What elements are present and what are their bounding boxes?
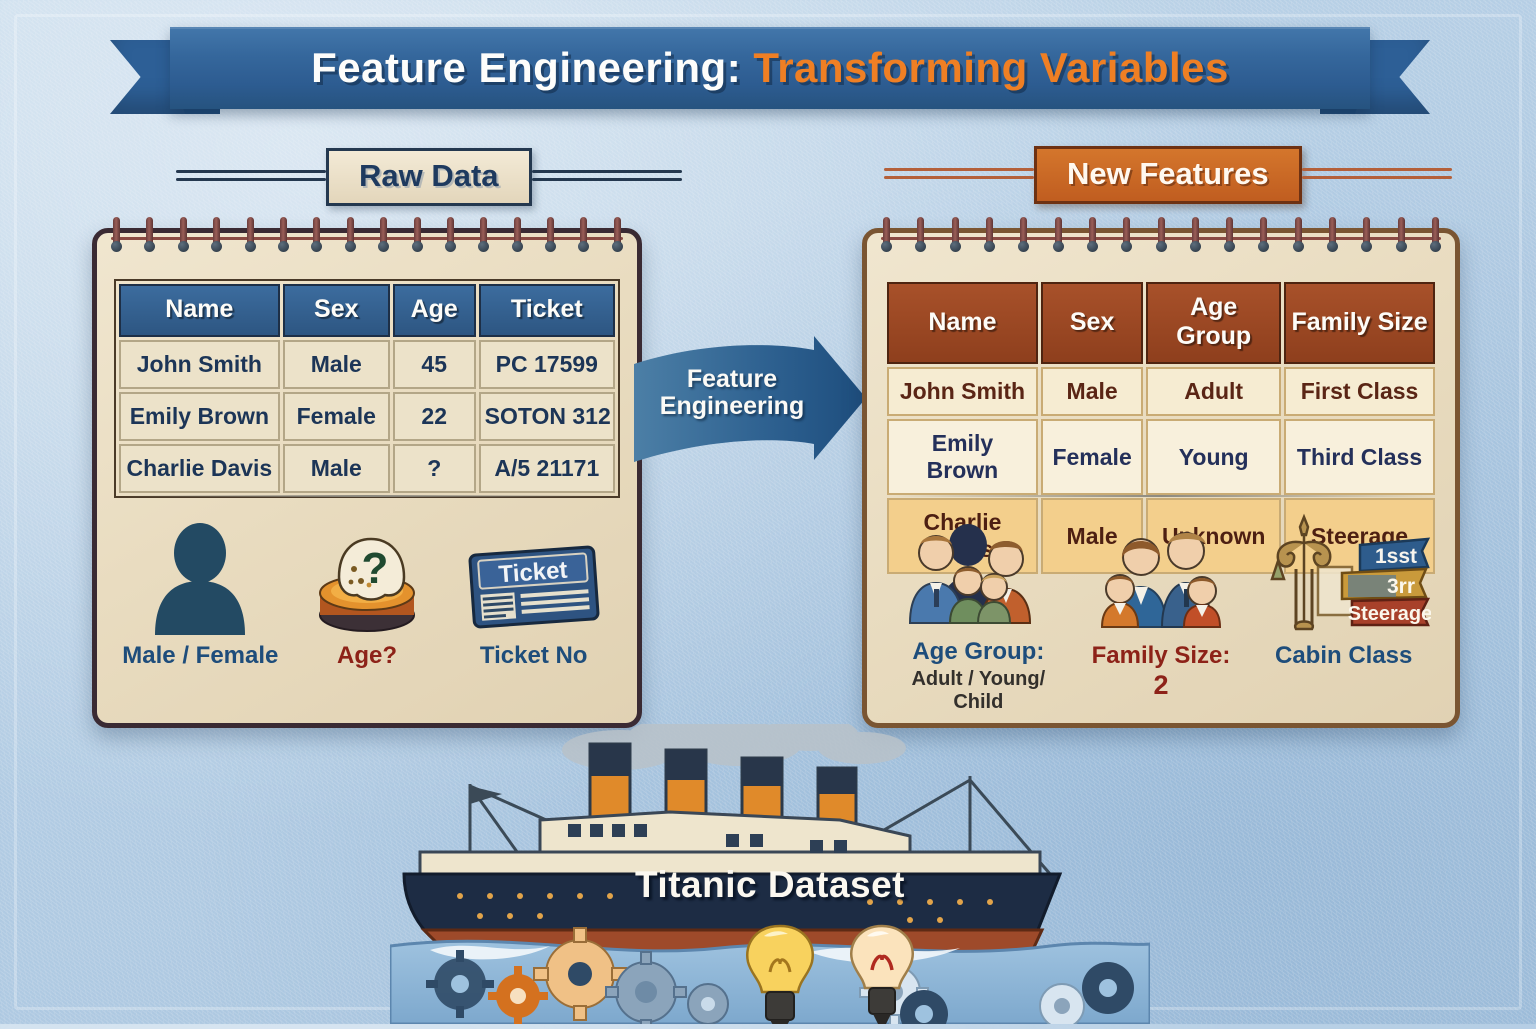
feature-engineering-arrow: Feature Engineering xyxy=(632,336,868,476)
feature-icon-family-size: Family Size: 2 xyxy=(1070,509,1253,713)
cell-age: 22 xyxy=(393,392,476,441)
cell-sex: Female xyxy=(283,392,390,441)
cell-name: Charlie Davis xyxy=(119,444,280,493)
signpost-icon: 1sst 3rr Steerage xyxy=(1256,509,1431,635)
family-pair-icon xyxy=(1086,523,1236,635)
new-features-icon-row: Age Group: Adult / Young/ Child xyxy=(887,509,1435,713)
col-header-ticket: Ticket xyxy=(479,284,615,337)
table-header-row: Name Sex Age Ticket xyxy=(119,284,615,337)
col-header-sex: Sex xyxy=(1041,282,1143,364)
table-row: Emily Brown Female 22 SOTON 312 xyxy=(119,392,615,441)
family-group-icon xyxy=(898,519,1058,631)
age-group-caption: Age Group: xyxy=(912,639,1044,666)
cell-name: Emily Brown xyxy=(887,419,1038,495)
question-glyph: ? xyxy=(362,544,389,593)
title-ribbon: Feature Engineering: Transforming Variab… xyxy=(110,22,1430,122)
family-size-value: 2 xyxy=(1153,670,1168,700)
title-part-1: Feature Engineering: xyxy=(311,44,741,91)
cell-family-size: Third Class xyxy=(1284,419,1435,495)
table-header-row: Name Sex Age Group Family Size xyxy=(887,282,1435,364)
gear-icon xyxy=(1082,962,1134,1014)
col-header-family-size: Family Size xyxy=(1284,282,1435,364)
raw-data-card: Name Sex Age Ticket John Smith Male 45 P… xyxy=(92,228,642,728)
ticket-word: Ticket xyxy=(497,557,568,589)
cabin-class-caption: Cabin Class xyxy=(1275,643,1412,670)
card-divider xyxy=(123,495,611,497)
cell-age-missing: ? xyxy=(393,444,476,493)
cell-sex: Male xyxy=(283,444,390,493)
raw-data-label: Raw Data xyxy=(326,148,532,206)
spiral-binding-2 xyxy=(881,217,1441,259)
deco-lines-right xyxy=(532,166,682,188)
raw-data-header: Raw Data xyxy=(176,148,682,206)
gear-icon xyxy=(1040,984,1084,1024)
new-features-card: Name Sex Age Group Family Size John Smit… xyxy=(862,228,1460,728)
col-header-name: Name xyxy=(887,282,1038,364)
cell-age-group: Young xyxy=(1146,419,1281,495)
ticket-icon: Ticket xyxy=(464,535,604,635)
ribbon-body: Feature Engineering: Transforming Variab… xyxy=(170,27,1370,109)
card-divider-2 xyxy=(893,495,1429,497)
cell-family-size: First Class xyxy=(1284,367,1435,416)
new-features-label: New Features xyxy=(1034,146,1302,204)
raw-icon-age: ? Age? xyxy=(284,509,451,713)
table-row: Emily Brown Female Young Third Class xyxy=(887,419,1435,495)
sign-label-first: 1sst xyxy=(1375,545,1417,568)
table-row: John Smith Male 45 PC 17599 xyxy=(119,340,615,389)
col-header-sex: Sex xyxy=(283,284,390,337)
person-silhouette-icon xyxy=(145,523,255,635)
pie-question-icon: ? xyxy=(307,527,427,635)
deco-lines-right-2 xyxy=(1302,164,1452,186)
col-header-age: Age xyxy=(393,284,476,337)
title-part-2: Transforming Variables xyxy=(753,44,1229,91)
cell-ticket: PC 17599 xyxy=(479,340,615,389)
cell-name: Emily Brown xyxy=(119,392,280,441)
titanic-ship-scene: Titanic Dataset xyxy=(390,724,1150,1024)
cell-sex: Female xyxy=(1041,419,1143,495)
flag-icon xyxy=(470,786,502,804)
arrow-label-line2: Engineering xyxy=(660,392,804,420)
cell-sex: Male xyxy=(283,340,390,389)
ticket-caption: Ticket No xyxy=(480,643,588,670)
sign-label-steerage: Steerage xyxy=(1348,603,1431,625)
raw-icon-gender: Male / Female xyxy=(117,509,284,713)
ship-name-label: Titanic Dataset xyxy=(390,864,1150,906)
raw-data-table: Name Sex Age Ticket John Smith Male 45 P… xyxy=(114,279,620,498)
col-header-name: Name xyxy=(119,284,280,337)
new-features-header: New Features xyxy=(884,146,1452,204)
cell-name: John Smith xyxy=(887,367,1038,416)
cell-age-group: Adult xyxy=(1146,367,1281,416)
age-group-values: Adult / Young/ Child xyxy=(887,668,1070,713)
gender-caption: Male / Female xyxy=(122,643,278,670)
family-size-caption: Family Size: xyxy=(1092,643,1231,670)
feature-icon-cabin-class: 1sst 3rr Steerage Cabin Class xyxy=(1252,509,1435,713)
cell-name: John Smith xyxy=(119,340,280,389)
table-row: John Smith Male Adult First Class xyxy=(887,367,1435,416)
cell-ticket: SOTON 312 xyxy=(479,392,615,441)
deco-lines-left xyxy=(176,166,326,188)
raw-icon-row: Male / Female ? Age? xyxy=(117,509,617,713)
feature-icon-age-group: Age Group: Adult / Young/ Child xyxy=(887,509,1070,713)
cell-sex: Male xyxy=(1041,367,1143,416)
sign-label-third: 3rr xyxy=(1387,575,1415,598)
table-row: Charlie Davis Male ? A/5 21171 xyxy=(119,444,615,493)
cell-ticket: A/5 21171 xyxy=(479,444,615,493)
arrow-label: Feature Engineering xyxy=(642,366,822,420)
gear-icon xyxy=(688,984,728,1024)
raw-icon-ticket: Ticket Ticket No xyxy=(450,509,617,713)
deco-lines-left-2 xyxy=(884,164,1034,186)
age-caption: Age? xyxy=(337,643,397,670)
arrow-label-line1: Feature xyxy=(687,365,777,393)
col-header-age-group: Age Group xyxy=(1146,282,1281,364)
spiral-binding xyxy=(111,217,623,259)
cell-age: 45 xyxy=(393,340,476,389)
